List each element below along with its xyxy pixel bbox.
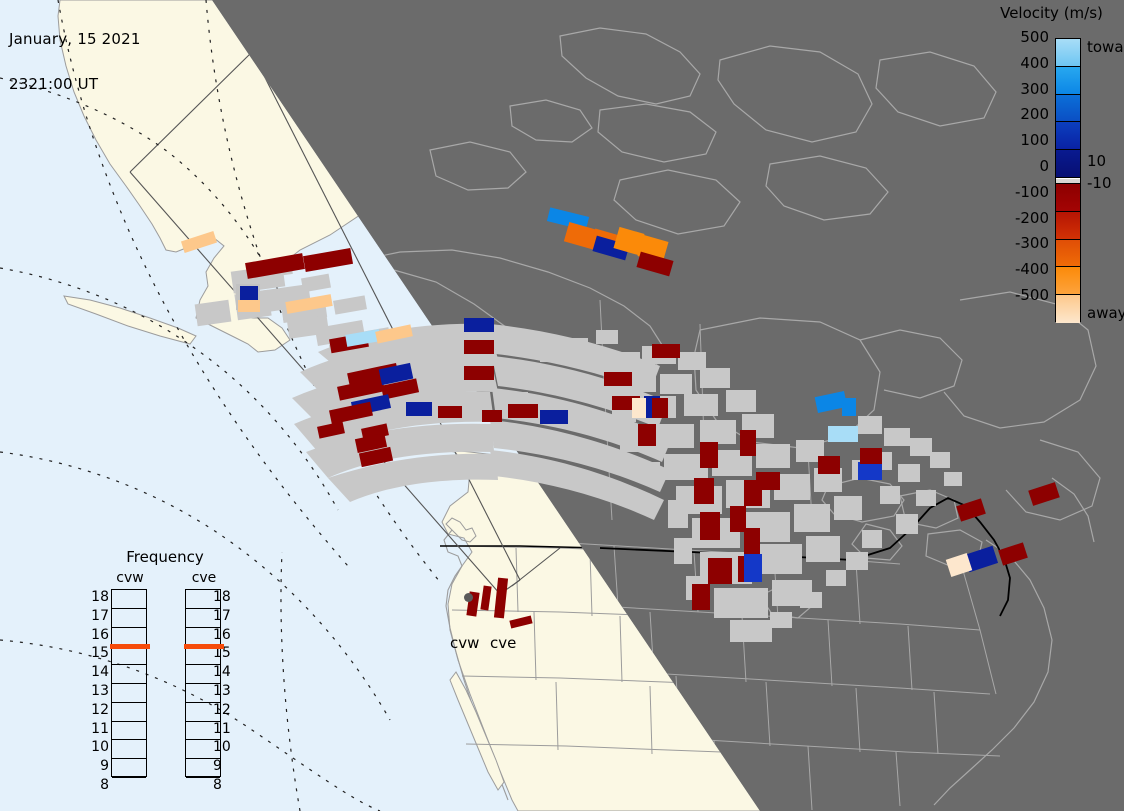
frequency-marker [184, 644, 224, 649]
colorbar-tick-label: -200 [975, 211, 1049, 237]
colorbar-tick-label: -300 [975, 236, 1049, 262]
frequency-cell [112, 665, 146, 684]
colorbar-band [1056, 212, 1080, 240]
frequency-cell [186, 665, 220, 684]
colorbar-band [1056, 39, 1080, 67]
colorbar-tick-label: 100 [975, 133, 1049, 159]
colorbar-band [1056, 67, 1080, 95]
colorbar-band [1056, 267, 1080, 295]
frequency-cell [186, 609, 220, 628]
colorbar-strip[interactable] [1055, 38, 1081, 322]
frequency-cell [112, 722, 146, 741]
frequency-column-cve[interactable]: cve [185, 570, 223, 777]
frequency-legend: Frequency 18171615141312111098 181716151… [85, 548, 245, 783]
frequency-cell [186, 684, 220, 703]
timestamp-date: January, 15 2021 [9, 32, 141, 47]
radar-site-label-cve[interactable]: cve [490, 634, 516, 652]
radar-map-canvas: January, 15 2021 2321:00 UT Velocity (m/… [0, 0, 1124, 811]
frequency-scale-label: 8 [213, 780, 239, 799]
timestamp-time: 2321:00 UT [9, 77, 141, 92]
frequency-cell [186, 759, 220, 778]
colorbar-tick-labels: 5004003002001000-100-200-300-400-500 [975, 30, 1049, 314]
frequency-column-cve-box[interactable] [185, 589, 221, 777]
colorbar-title: Velocity (m/s) [979, 4, 1124, 22]
frequency-cell [112, 684, 146, 703]
colorbar-band [1056, 240, 1080, 268]
velocity-colorbar-panel: Velocity (m/s) 5004003002001000-100-200-… [975, 2, 1124, 332]
colorbar-tick-label: -400 [975, 262, 1049, 288]
frequency-cell [112, 703, 146, 722]
colorbar-band [1056, 295, 1080, 323]
colorbar-tick-label: 500 [975, 30, 1049, 56]
frequency-cell [186, 590, 220, 609]
colorbar-tick-label: 400 [975, 56, 1049, 82]
frequency-column-cvw-box[interactable] [111, 589, 147, 777]
colorbar-toward-label: toward [1087, 38, 1124, 56]
colorbar-pos-threshold-label: 10 [1087, 152, 1106, 170]
frequency-scale-label: 8 [83, 780, 109, 799]
colorbar-band [1056, 95, 1080, 123]
frequency-column-cve-label: cve [185, 570, 223, 586]
colorbar-band [1056, 150, 1080, 178]
frequency-cell [112, 740, 146, 759]
colorbar-tick-label: 300 [975, 82, 1049, 108]
frequency-cell [112, 590, 146, 609]
colorbar-tick-label: 200 [975, 107, 1049, 133]
frequency-cell [186, 740, 220, 759]
frequency-cell [186, 722, 220, 741]
frequency-column-cvw[interactable]: cvw [111, 570, 149, 777]
frequency-column-cvw-label: cvw [111, 570, 149, 586]
frequency-legend-title: Frequency [85, 548, 245, 566]
colorbar-band [1056, 122, 1080, 150]
frequency-cell [112, 609, 146, 628]
frequency-cell [186, 703, 220, 722]
frequency-marker [110, 644, 150, 649]
colorbar-away-label: away [1087, 304, 1124, 322]
colorbar-tick-label: -500 [975, 288, 1049, 314]
frequency-cell [112, 759, 146, 778]
colorbar-neg-threshold-label: -10 [1087, 174, 1112, 192]
colorbar-tick-label: -100 [975, 185, 1049, 211]
timestamp-block: January, 15 2021 2321:00 UT [9, 2, 141, 122]
radar-site-marker[interactable] [464, 593, 473, 602]
colorbar-band [1056, 184, 1080, 212]
radar-site-label-cvw[interactable]: cvw [450, 634, 479, 652]
frequency-scale-left: 18171615141312111098 [83, 592, 109, 799]
colorbar-tick-label: 0 [975, 159, 1049, 185]
